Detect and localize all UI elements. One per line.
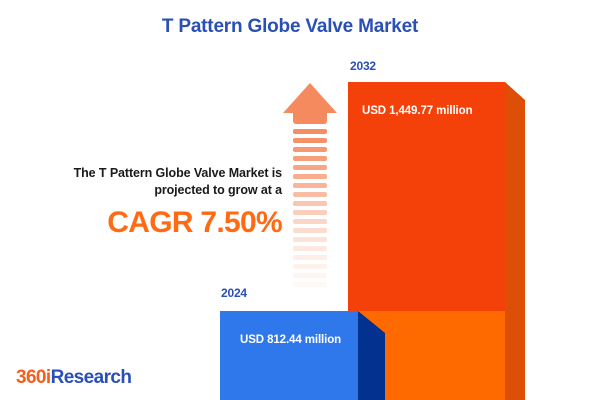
cagr-value: CAGR 7.50% <box>14 206 282 240</box>
arrow-stripe <box>293 228 327 233</box>
arrow-stripe <box>293 129 327 134</box>
bar-2024-value-label: USD 812.44 million <box>240 334 341 346</box>
arrow-stripe <box>293 255 327 260</box>
arrow-stripe <box>293 201 327 206</box>
arrow-stripe <box>293 237 327 242</box>
arrow-stripe <box>293 138 327 143</box>
annotation-line-1: The T Pattern Globe Valve Market is <box>14 165 282 182</box>
arrow-stripe <box>293 246 327 251</box>
arrow-stripe <box>293 174 327 179</box>
growth-arrow-icon <box>283 83 337 293</box>
arrow-stripe <box>293 273 327 278</box>
arrow-stripe <box>293 183 327 188</box>
arrow-stripe <box>293 165 327 170</box>
arrow-stripe <box>293 219 327 224</box>
bar-2024-face <box>220 311 358 400</box>
arrow-stripe <box>293 264 327 269</box>
annotation-line-2: projected to grow at a <box>14 182 282 199</box>
logo-research-text: Research <box>51 367 132 388</box>
infographic-canvas: T Pattern Globe Valve Market The T Patte… <box>0 0 600 400</box>
logo-360i-text: 360i <box>16 367 51 388</box>
page-title: T Pattern Globe Valve Market <box>0 16 580 38</box>
cagr-annotation-block: The T Pattern Globe Valve Market is proj… <box>14 165 282 240</box>
arrow-stripe <box>293 282 327 287</box>
bar-2032-side-panel <box>505 82 525 400</box>
bar-label-2024: 2024 <box>221 286 247 300</box>
annotation-text: The T Pattern Globe Valve Market is proj… <box>14 165 282 199</box>
bar-label-2032: 2032 <box>350 59 376 73</box>
arrow-stripe <box>293 156 327 161</box>
bar-2032-value-label: USD 1,449.77 million <box>362 105 473 117</box>
brand-logo: 360iResearch <box>16 367 131 389</box>
arrow-stripe <box>293 147 327 152</box>
bar-2024: USD 812.44 million <box>220 311 358 400</box>
arrow-neck-segment <box>293 113 327 124</box>
arrow-head-icon <box>283 83 337 113</box>
arrow-stripe <box>293 210 327 215</box>
arrow-stripe <box>293 192 327 197</box>
